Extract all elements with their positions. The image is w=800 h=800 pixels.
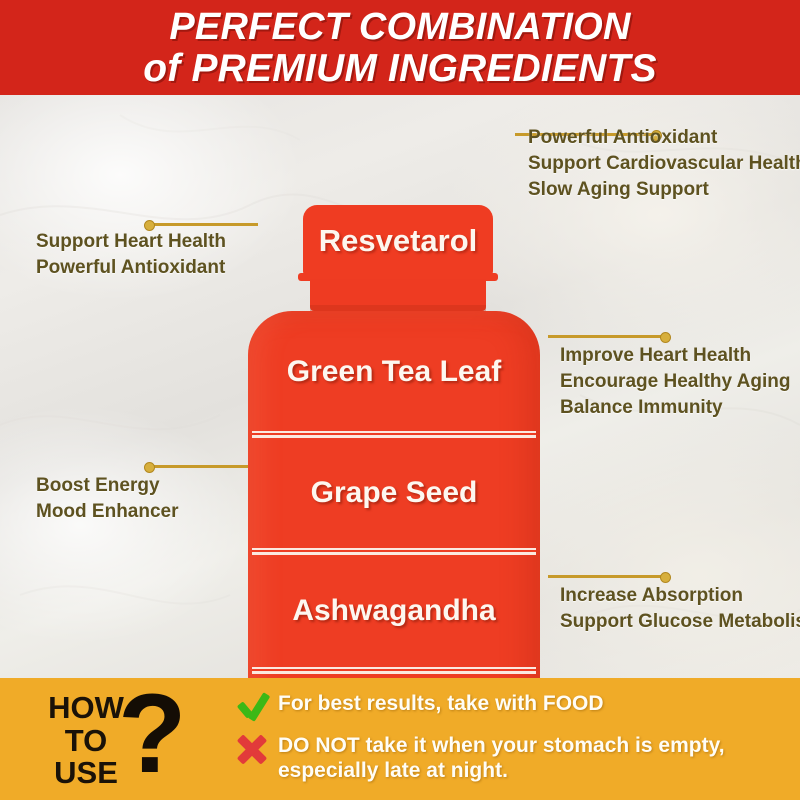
annotation-ashwagandha: Boost Energy Mood Enhancer [36,473,179,525]
ingredient-label-green-tea-leaf: Green Tea Leaf [287,355,502,389]
how-to-use-panel: HOW TO USE ? For best results, take with… [0,678,800,800]
check-icon [232,690,278,724]
leader-line-grape-seed [548,335,664,338]
leader-dot-black-pepper [660,572,671,583]
ingredient-label-ashwagandha: Ashwagandha [292,594,495,628]
supplement-bottle: Resvetarol Green Tea Leaf Grape Seed Ash… [248,205,540,678]
usage-tip-do-line1: For best results, take with FOOD [278,692,604,717]
band-divider-0 [252,431,536,438]
annotation-grape-seed: Improve Heart Health Encourage Healthy A… [560,343,791,422]
annotation-black-pepper-line-1: Support Glucose Metabolism [560,609,800,635]
annotation-black-pepper: Increase Absorption Support Glucose Meta… [560,583,800,635]
header-banner: PERFECT COMBINATION of PREMIUM INGREDIEN… [0,0,800,95]
leader-line-black-pepper [548,575,664,578]
header-title-line1: PERFECT COMBINATION [169,8,630,46]
annotation-resvetarol-line-2: Slow Aging Support [528,177,800,203]
bottle-cap-label: Resvetarol [303,205,493,277]
usage-tip-dont-line1: DO NOT take it when your stomach is empt… [278,734,725,759]
band-divider-2 [252,667,536,674]
usage-tips-list: For best results, take with FOOD DO NOT … [232,690,792,792]
annotation-green-tea-leaf-line-0: Support Heart Health [36,229,226,255]
annotation-green-tea-leaf: Support Heart Health Powerful Antioxidan… [36,229,226,281]
leader-line-green-tea-leaf [148,223,258,226]
annotation-ashwagandha-line-1: Mood Enhancer [36,499,179,525]
annotation-grape-seed-line-2: Balance Immunity [560,395,791,421]
ingredient-band-0: Green Tea Leaf [248,311,540,433]
annotation-ashwagandha-line-0: Boost Energy [36,473,179,499]
question-mark-icon: ? [118,678,186,790]
usage-tip-do-text: For best results, take with FOOD [278,690,604,717]
ingredient-band-2: Ashwagandha [248,555,540,667]
main-stage: Resvetarol Green Tea Leaf Grape Seed Ash… [0,95,800,678]
annotation-black-pepper-line-0: Increase Absorption [560,583,800,609]
leader-dot-grape-seed [660,332,671,343]
annotation-grape-seed-line-0: Improve Heart Health [560,343,791,369]
usage-tip-dont-line2: especially late at night. [278,759,725,784]
usage-tip-do: For best results, take with FOOD [232,690,792,724]
bottle-body: Green Tea Leaf Grape Seed Ashwagandha Bl… [248,311,540,678]
header-title-line2: of PREMIUM INGREDIENTS [143,49,657,88]
leader-dot-ashwagandha [144,462,155,473]
how-to-use-title-block: HOW TO USE ? [22,684,212,796]
annotation-green-tea-leaf-line-1: Powerful Antioxidant [36,255,226,281]
infographic-poster: PERFECT COMBINATION of PREMIUM INGREDIEN… [0,0,800,800]
usage-tip-dont: DO NOT take it when your stomach is empt… [232,732,792,784]
annotation-grape-seed-line-1: Encourage Healthy Aging [560,369,791,395]
annotation-resvetarol: Powerful Antioxidant Support Cardiovascu… [528,125,800,204]
leader-line-ashwagandha [148,465,258,468]
usage-tip-dont-text: DO NOT take it when your stomach is empt… [278,732,725,784]
annotation-resvetarol-line-0: Powerful Antioxidant [528,125,800,151]
band-divider-1 [252,548,536,555]
annotation-resvetarol-line-1: Support Cardiovascular Health [528,151,800,177]
ingredient-band-1: Grape Seed [248,438,540,548]
ingredient-label-grape-seed: Grape Seed [311,476,478,510]
cross-icon [232,732,278,766]
